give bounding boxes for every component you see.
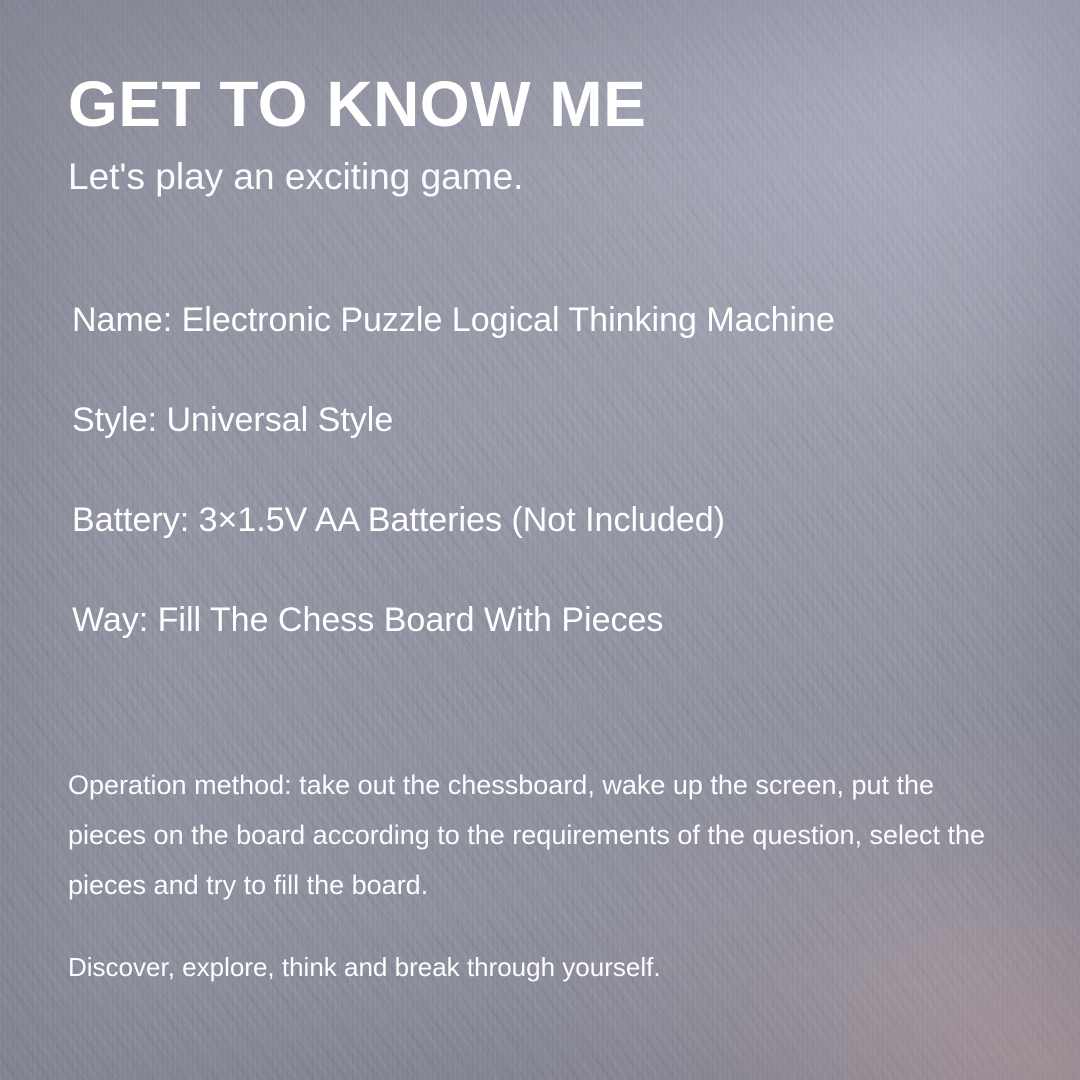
closing-tagline: Discover, explore, think and break throu… (68, 952, 1018, 983)
spec-item-name: Name: Electronic Puzzle Logical Thinking… (72, 303, 1032, 337)
specification-list: Name: Electronic Puzzle Logical Thinking… (72, 303, 1032, 637)
spec-item-way: Way: Fill The Chess Board With Pieces (72, 603, 1032, 637)
page-subtitle: Let's play an exciting game. (68, 157, 523, 198)
spec-item-style: Style: Universal Style (72, 403, 1032, 437)
spec-item-battery: Battery: 3×1.5V AA Batteries (Not Includ… (72, 503, 1032, 537)
operation-method-paragraph: Operation method: take out the chessboar… (68, 760, 1018, 910)
card-content: GET TO KNOW ME Let's play an exciting ga… (0, 0, 1080, 1080)
product-info-card: GET TO KNOW ME Let's play an exciting ga… (0, 0, 1080, 1080)
page-title: GET TO KNOW ME (68, 72, 646, 136)
